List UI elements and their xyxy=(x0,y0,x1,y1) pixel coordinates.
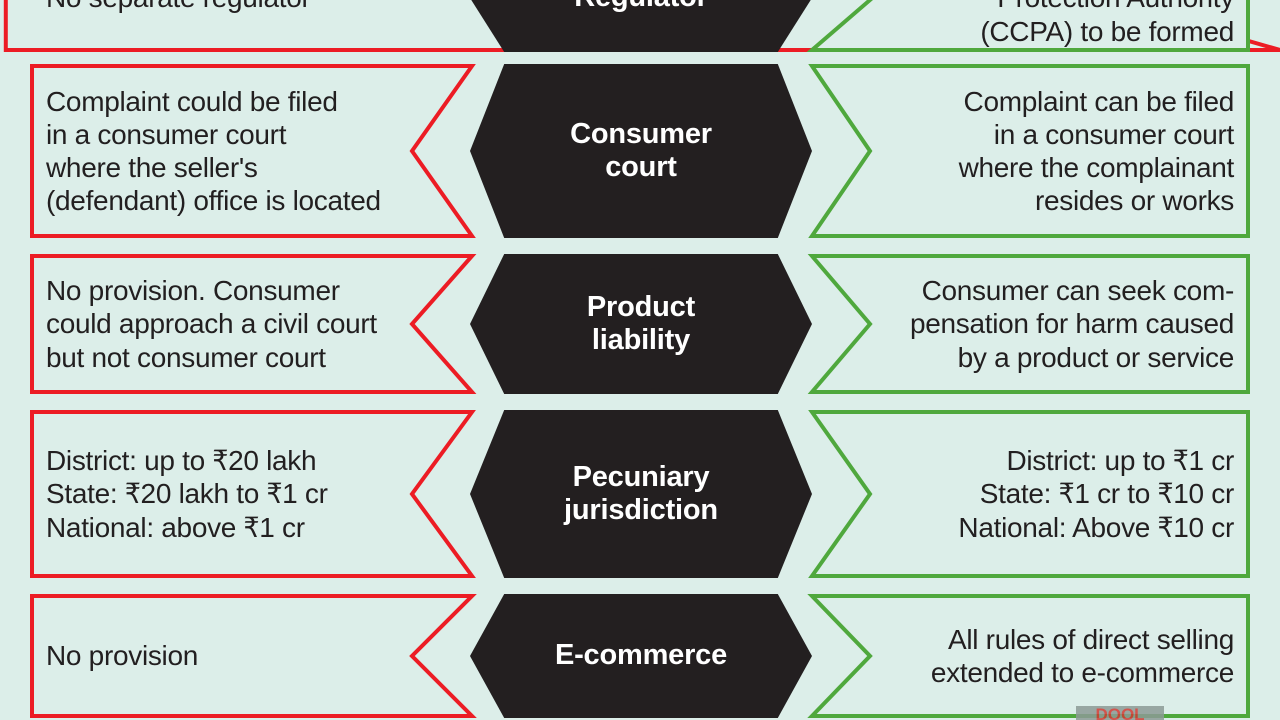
topic-label: E-commerce xyxy=(555,639,727,672)
topic-label: Consumer court xyxy=(570,118,712,184)
topic-hex-pecuniary-jurisdiction: Pecuniary jurisdiction xyxy=(470,410,812,578)
topic-hex-regulator: Regulator xyxy=(470,0,812,52)
old-law-text-pecuniary-jurisdiction: District: up to ₹20 lakh State: ₹20 lakh… xyxy=(46,410,406,578)
comparison-row-consumer-court: Complaint could be filed in a consumer c… xyxy=(0,64,1280,238)
new-law-line: Central Consumer Protection Authority (C… xyxy=(980,0,1234,48)
new-law-text-regulator: Central Consumer Protection Authority (C… xyxy=(864,0,1234,52)
comparison-row-regulator: No separate regulator Regulator Central … xyxy=(0,0,1280,52)
new-law-line: Complaint can be filed in a consumer cou… xyxy=(959,85,1234,217)
new-law-text-pecuniary-jurisdiction: District: up to ₹1 cr State: ₹1 cr to ₹1… xyxy=(864,410,1234,578)
new-law-text-consumer-court: Complaint can be filed in a consumer cou… xyxy=(864,64,1234,238)
topic-hex-consumer-court: Consumer court xyxy=(470,64,812,238)
topic-label: Product liability xyxy=(587,291,695,357)
old-law-line: No provision xyxy=(46,639,198,672)
old-law-text-product-liability: No provision. Consumer could approach a … xyxy=(46,254,406,394)
source-watermark: DOOL xyxy=(1076,706,1164,720)
new-law-text-product-liability: Consumer can seek com- pensation for har… xyxy=(864,254,1234,394)
old-law-line: No separate regulator xyxy=(46,0,311,15)
old-law-text-consumer-court: Complaint could be filed in a consumer c… xyxy=(46,64,406,238)
topic-label: Regulator xyxy=(574,0,708,15)
old-law-text-e-commerce: No provision xyxy=(46,594,406,718)
comparison-row-e-commerce: No provision E-commerce All rules of dir… xyxy=(0,594,1280,718)
comparison-row-product-liability: No provision. Consumer could approach a … xyxy=(0,254,1280,394)
topic-hex-e-commerce: E-commerce xyxy=(470,594,812,718)
new-law-text-e-commerce: All rules of direct selling extended to … xyxy=(864,594,1234,718)
old-law-line: Complaint could be filed in a consumer c… xyxy=(46,85,381,217)
topic-hex-product-liability: Product liability xyxy=(470,254,812,394)
comparison-infographic: No separate regulator Regulator Central … xyxy=(0,0,1280,720)
comparison-row-pecuniary-jurisdiction: District: up to ₹20 lakh State: ₹20 lakh… xyxy=(0,410,1280,578)
new-law-line: Consumer can seek com- pensation for har… xyxy=(910,274,1234,373)
old-law-line: District: up to ₹20 lakh State: ₹20 lakh… xyxy=(46,444,328,543)
old-law-text-regulator: No separate regulator xyxy=(46,0,406,52)
new-law-line: All rules of direct selling extended to … xyxy=(931,623,1234,689)
new-law-line: District: up to ₹1 cr State: ₹1 cr to ₹1… xyxy=(958,444,1234,543)
topic-label: Pecuniary jurisdiction xyxy=(564,461,718,527)
old-law-line: No provision. Consumer could approach a … xyxy=(46,274,377,373)
